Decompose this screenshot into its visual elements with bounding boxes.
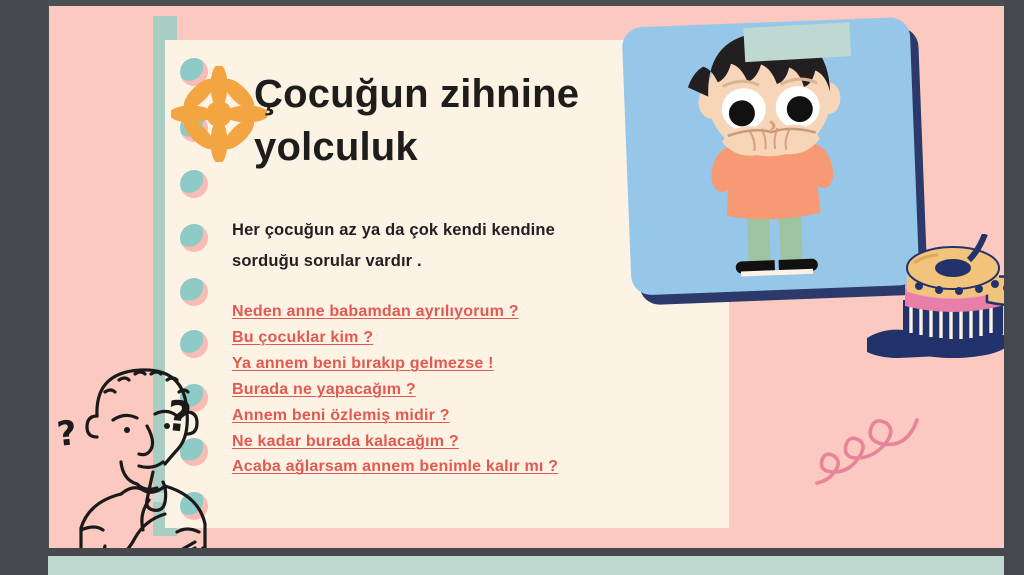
- starburst-icon: [171, 66, 267, 162]
- page-title: Çocuğun zihnine yolculuk: [254, 68, 654, 174]
- intro-paragraph: Her çocuğun az ya da çok kendi kendine s…: [232, 215, 592, 276]
- slide-canvas[interactable]: Çocuğun zihnine yolculuk Her çocuğun az …: [49, 6, 1004, 548]
- question-mark-icon: ?: [165, 391, 194, 442]
- editor-bottom-chrome: [0, 548, 1024, 556]
- list-item: Annem beni özlemiş midir ?: [232, 403, 652, 429]
- list-item: Neden anne babamdan ayrılıyorum ?: [232, 299, 652, 325]
- washi-tape-stack-illustration: [867, 234, 1004, 364]
- list-item: Burada ne yapacağım ?: [232, 377, 652, 403]
- question-list: Neden anne babamdan ayrılıyorum ? Bu çoc…: [232, 299, 652, 480]
- tape-strip: [743, 22, 851, 62]
- notebook-hole: [180, 224, 208, 252]
- slide-filmstrip[interactable]: [48, 556, 1004, 575]
- notebook-hole: [180, 170, 208, 198]
- editor-right-chrome: [1004, 0, 1024, 575]
- notebook-hole: [180, 278, 208, 306]
- editor-window: Çocuğun zihnine yolculuk Her çocuğun az …: [0, 0, 1024, 575]
- squiggle-decoration: [789, 404, 939, 514]
- question-mark-icon: ?: [55, 413, 79, 455]
- list-item: Bu çocuklar kim ?: [232, 325, 652, 351]
- filmstrip-right-edge: [1004, 556, 1024, 575]
- list-item: Ya annem beni bırakıp gelmezse !: [232, 351, 652, 377]
- editor-left-chrome: [0, 0, 48, 575]
- list-item: Acaba ağlarsam annem benimle kalır mı ?: [232, 454, 652, 480]
- list-item: Ne kadar burada kalacağım ?: [232, 429, 652, 455]
